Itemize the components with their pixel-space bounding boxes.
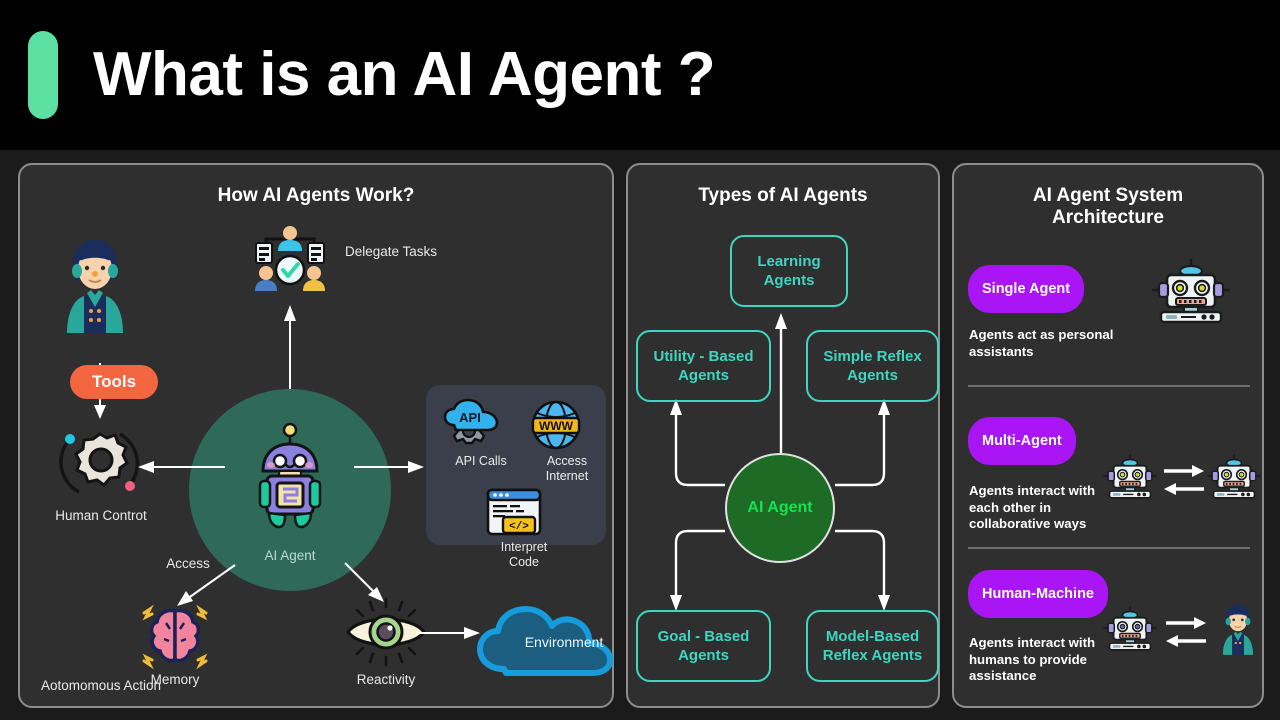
robot-icon xyxy=(1206,453,1262,499)
node-label-environment: Environment xyxy=(480,608,648,670)
tool-label-access-internet: Access Internet xyxy=(528,454,606,484)
center-ai-agent-node: AI Agent xyxy=(725,453,835,563)
tool-label-api-calls: API Calls xyxy=(442,454,520,469)
svg-text:WWW: WWW xyxy=(539,419,574,433)
environment-text: Environment xyxy=(525,628,604,650)
tool-access-internet: WWW Access Internet xyxy=(528,399,606,484)
pill-human-machine[interactable]: Human-Machine xyxy=(968,570,1108,618)
pill-single-agent[interactable]: Single Agent xyxy=(968,265,1084,313)
panel-types-of-ai-agents: Types of AI Agents Learning Ag xyxy=(626,163,940,708)
double-arrow-icon xyxy=(1162,461,1206,497)
double-arrow-icon xyxy=(1164,613,1208,649)
svg-text:</>: </> xyxy=(509,521,529,533)
panel-how-ai-agents-work: How AI Agents Work? xyxy=(18,163,614,708)
type-box-simple-reflex-agents[interactable]: Simple Reflex Agents xyxy=(806,330,939,402)
desc-multi-agent: Agents interact with each other in colla… xyxy=(969,483,1119,533)
robot-icon xyxy=(1102,453,1158,499)
tools-badge: Tools xyxy=(70,365,158,399)
type-box-learning-agents[interactable]: Learning Agents xyxy=(730,235,848,307)
tool-interpret-code: </> Interpret Code xyxy=(485,487,563,570)
type-box-utility-based-agents[interactable]: Utility - Based Agents xyxy=(636,330,771,402)
page-title: What is an AI Agent ? xyxy=(93,44,715,106)
svg-text:API: API xyxy=(459,410,481,425)
header: What is an AI Agent ? xyxy=(0,0,1280,150)
infographic-root: What is an AI Agent ? How AI Agents Work… xyxy=(0,0,1280,720)
www-globe-icon: WWW xyxy=(528,399,606,451)
divider-2 xyxy=(968,547,1250,549)
person-icon xyxy=(1216,601,1260,657)
tool-label-interpret-code: Interpret Code xyxy=(485,540,563,570)
panel-title-architecture: AI Agent System Architecture xyxy=(954,185,1262,229)
type-box-goal-based-agents[interactable]: Goal - Based Agents xyxy=(636,610,771,682)
code-window-icon: </> xyxy=(485,487,563,537)
type-box-model-based-reflex-agents[interactable]: Model-Based Reflex Agents xyxy=(806,610,939,682)
desc-single-agent: Agents act as personal assistants xyxy=(969,327,1119,360)
robot-icon xyxy=(1102,605,1158,651)
api-cloud-gear-icon: API xyxy=(442,399,520,451)
tool-api-calls: API API Calls xyxy=(442,399,520,469)
panel-ai-agent-system-architecture: AI Agent System Architecture Single Agen… xyxy=(952,163,1264,708)
accent-bar xyxy=(28,31,58,119)
pill-multi-agent[interactable]: Multi-Agent xyxy=(968,417,1076,465)
divider-1 xyxy=(968,385,1250,387)
robot-icon xyxy=(1150,257,1232,323)
desc-human-machine: Agents interact with humans to provide a… xyxy=(969,635,1124,685)
